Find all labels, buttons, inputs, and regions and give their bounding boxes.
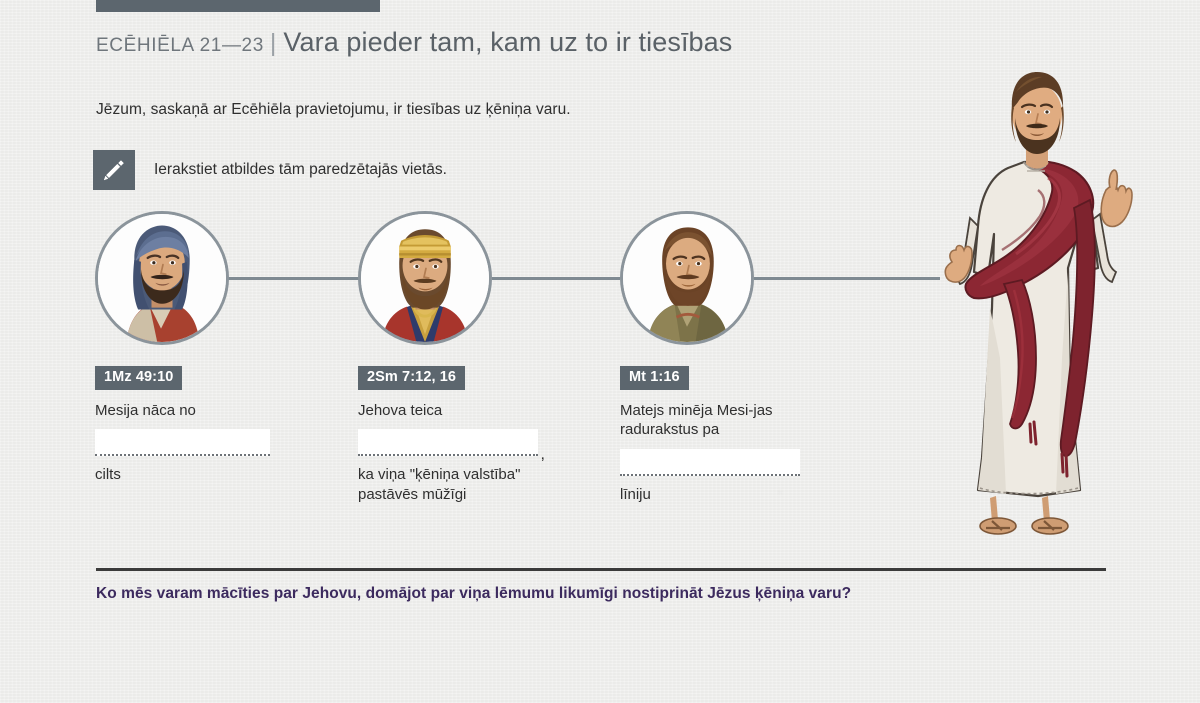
scripture-badge-1[interactable]: 1Mz 49:10 [95,366,182,390]
page-title: ECĒHIĒLA 21—23 | Vara pieder tam, kam uz… [96,27,732,58]
footer-question: Ko mēs varam mācīties par Jehovu, domājo… [96,585,1116,603]
worksheet-page: ECĒHIĒLA 21—23 | Vara pieder tam, kam uz… [0,0,1200,703]
timeline-entry-2: 2Sm 7:12, 16 Jehova teica ka viņa "ķēniņ… [358,366,538,505]
portrait-king-david [358,211,492,345]
entry-text-before-3: Matejs minēja Mesi-jas radurakstus pa [620,401,800,441]
timeline-entry-1: 1Mz 49:10 Mesija nāca no cilts [95,366,270,485]
entry-text-after-3: līniju [620,485,800,505]
top-slate-bar [96,0,380,12]
timeline-entry-3: Mt 1:16 Matejs minēja Mesi-jas radurakst… [620,366,800,505]
scripture-badge-3[interactable]: Mt 1:16 [620,366,689,390]
answer-blank-1[interactable] [95,429,270,456]
title-separator: | [270,29,277,58]
instruction-row: Ierakstiet atbildes tām paredzētajās vie… [93,150,447,190]
portrait-joseph [620,211,754,345]
title-main-text: Vara pieder tam, kam uz to ir tiesības [283,27,732,58]
answer-blank-3[interactable] [620,449,800,476]
portrait-judah [95,211,229,345]
entry-text-after-2: ka viņa "ķēniņa valstība" pastāvēs mūžīg… [358,465,538,505]
jesus-figure [930,58,1150,538]
instruction-text: Ierakstiet atbildes tām paredzētajās vie… [154,161,447,179]
connector-line-3 [754,277,940,280]
scripture-badge-2[interactable]: 2Sm 7:12, 16 [358,366,465,390]
entry-text-before-1: Mesija nāca no [95,401,270,421]
scripture-reference: ECĒHIĒLA 21—23 [96,35,264,57]
entry-text-before-2: Jehova teica [358,401,538,421]
answer-blank-2[interactable] [358,429,538,456]
entry-text-after-1: cilts [95,465,270,485]
connector-line-1 [228,277,361,280]
pencil-icon [93,150,135,190]
connector-line-2 [492,277,620,280]
intro-paragraph: Jēzum, saskaņā ar Ecēhiēla pravietojumu,… [96,101,571,119]
footer-divider [96,568,1106,571]
